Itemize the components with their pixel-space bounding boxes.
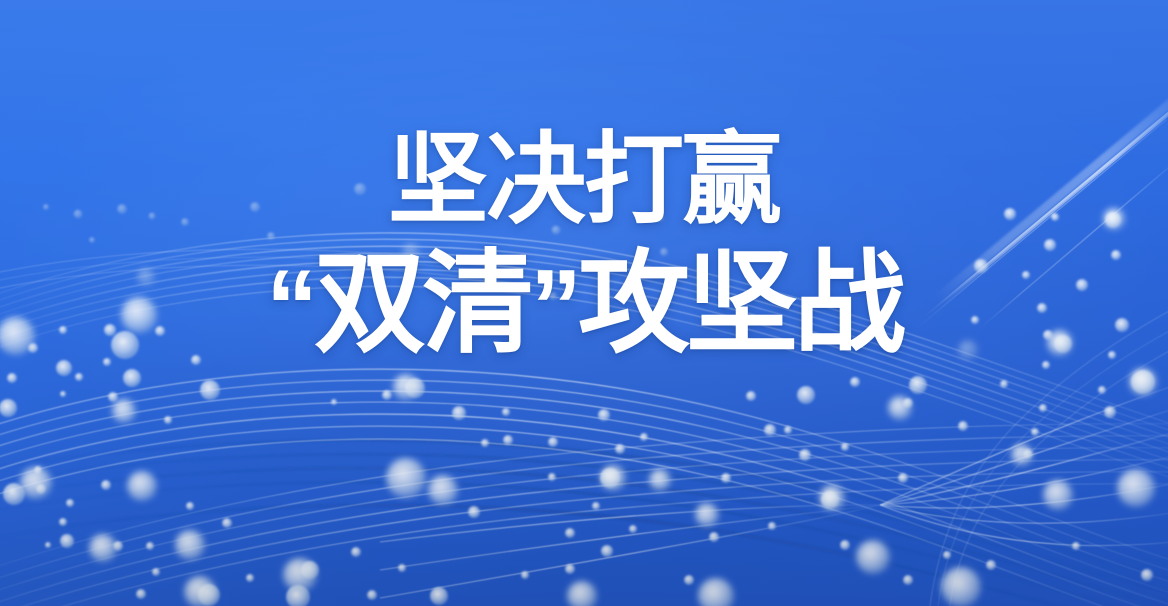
promo-banner: 坚决打赢 “双清”攻坚战: [0, 0, 1168, 606]
vignette-overlay: [0, 0, 1168, 606]
